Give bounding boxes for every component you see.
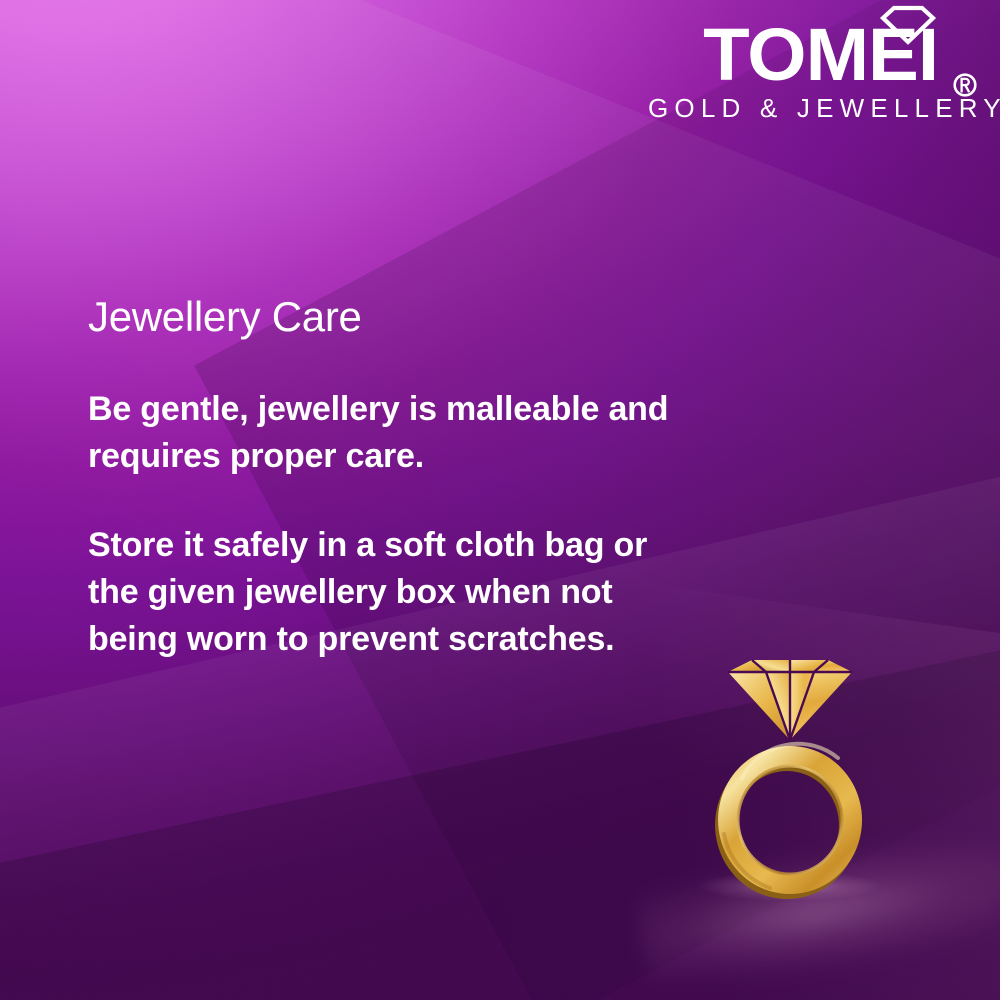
brand-tagline: GOLD & JEWELLERY [648,93,976,124]
diamond-ring-illustration [690,650,890,900]
brand-logo: TOMEI GOLD & JEWELLERY [648,6,978,124]
care-paragraph-1: Be gentle, jewellery is malleable and re… [88,386,688,480]
care-paragraph-2: Store it safely in a soft cloth bag or t… [88,522,688,663]
care-copy-block: Jewellery Care Be gentle, jewellery is m… [88,292,688,663]
diamond-gold-icon [728,660,852,740]
poster-canvas: TOMEI GOLD & JEWELLERY Jewellery Care Be… [0,0,1000,1000]
registered-trademark-icon [952,72,978,98]
brand-wordmark-text: TOMEI [703,18,938,92]
brand-logo-wordmark-row: TOMEI [648,6,978,90]
page-title: Jewellery Care [88,292,688,342]
